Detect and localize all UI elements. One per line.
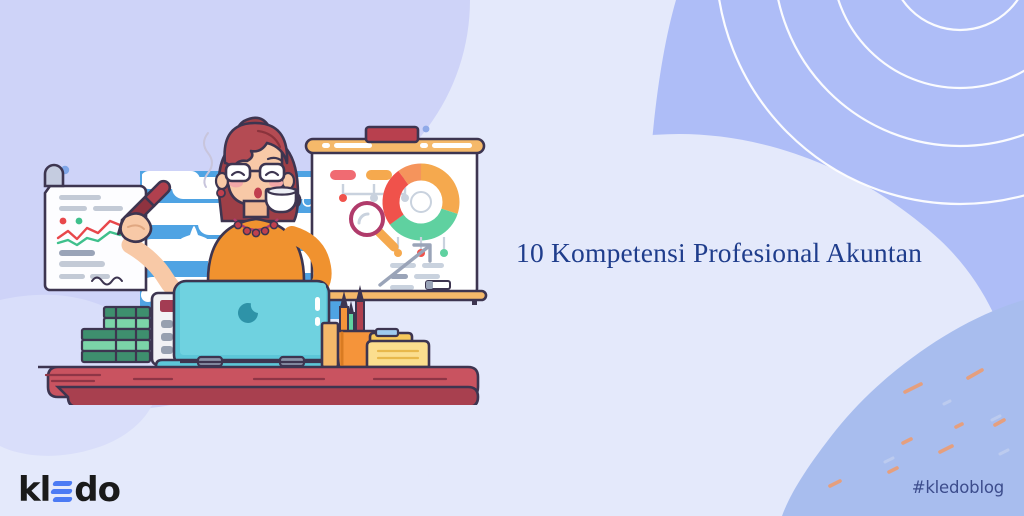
accountant-illustration [22, 85, 492, 405]
page-title: 10 Kompetensi Profesional Akuntan [516, 237, 986, 269]
logo-wordmark: kl do [18, 473, 120, 507]
paper-curl [45, 165, 63, 186]
writing-hand [121, 213, 152, 241]
kledo-e-bars-icon [51, 481, 72, 502]
earring-left [217, 189, 225, 197]
logo-suffix: do [74, 473, 120, 507]
board-tray [304, 291, 486, 300]
laptop [156, 281, 348, 372]
logo-prefix: kl [18, 473, 50, 507]
file-folder [322, 323, 429, 367]
mouth [254, 188, 262, 199]
blog-banner: 10 Kompetensi Profesional Akuntan kl do … [0, 0, 1024, 516]
money-stacks [82, 307, 150, 362]
kledo-logo[interactable]: kl do [18, 470, 120, 510]
board-clip [366, 127, 418, 142]
desk [38, 367, 478, 405]
hashtag-label: #kledoblog [912, 478, 1004, 497]
